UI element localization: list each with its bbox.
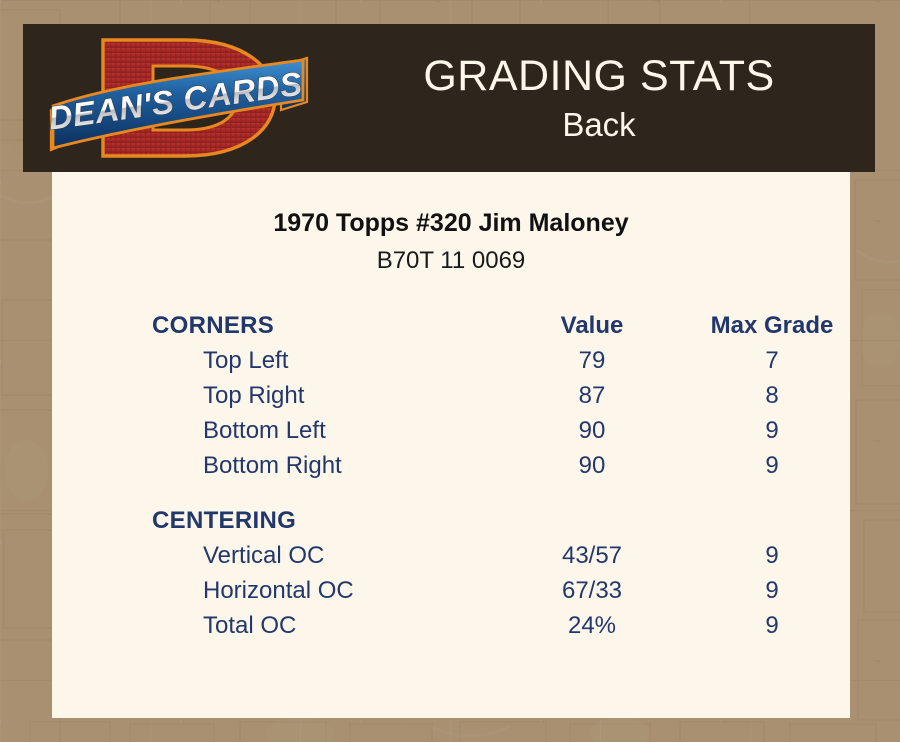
table-row: Horizontal OC 67/33 9 <box>152 573 852 608</box>
row-max-grade: 8 <box>672 378 872 413</box>
section-heading-corners: CORNERS <box>152 308 274 343</box>
row-label: Bottom Right <box>203 448 342 483</box>
row-label: Bottom Left <box>203 413 326 448</box>
header-title-block: GRADING STATS Back <box>323 24 875 172</box>
page-root: DEAN'S CARDS GRADING STATS Back 1970 Top… <box>0 0 900 742</box>
page-subtitle: Back <box>562 105 635 145</box>
row-value: 90 <box>522 448 662 483</box>
row-value: 67/33 <box>522 573 662 608</box>
row-max-grade: 9 <box>672 538 872 573</box>
page-title: GRADING STATS <box>423 51 774 101</box>
content-panel: 1970 Topps #320 Jim Maloney B70T 11 0069… <box>52 172 850 718</box>
section-header-row: CORNERS Value Max Grade <box>152 308 852 343</box>
row-max-grade: 7 <box>672 343 872 378</box>
table-row: Total OC 24% 9 <box>152 608 852 643</box>
row-label: Vertical OC <box>203 538 324 573</box>
table-row: Top Right 87 8 <box>152 378 852 413</box>
header-bar: DEAN'S CARDS GRADING STATS Back <box>23 24 875 172</box>
table-row: Bottom Right 90 9 <box>152 448 852 483</box>
row-max-grade: 9 <box>672 573 872 608</box>
column-header-max-grade: Max Grade <box>672 308 872 343</box>
card-serial-number: B70T 11 0069 <box>52 247 850 275</box>
row-value: 79 <box>522 343 662 378</box>
section-header-row: CENTERING <box>152 503 852 538</box>
card-title: 1970 Topps #320 Jim Maloney <box>52 209 850 238</box>
row-value: 24% <box>522 608 662 643</box>
section-spacer <box>152 483 852 503</box>
row-label: Top Left <box>203 343 288 378</box>
row-label: Top Right <box>203 378 304 413</box>
row-label: Total OC <box>203 608 296 643</box>
row-label: Horizontal OC <box>203 573 354 608</box>
table-row: Vertical OC 43/57 9 <box>152 538 852 573</box>
column-header-value: Value <box>522 308 662 343</box>
table-row: Top Left 79 7 <box>152 343 852 378</box>
table-row: Bottom Left 90 9 <box>152 413 852 448</box>
deans-cards-logo[interactable]: DEAN'S CARDS <box>45 28 315 168</box>
row-value: 43/57 <box>522 538 662 573</box>
logo-artwork: DEAN'S CARDS <box>45 28 315 168</box>
row-max-grade: 9 <box>672 413 872 448</box>
row-value: 87 <box>522 378 662 413</box>
row-max-grade: 9 <box>672 448 872 483</box>
section-heading-centering: CENTERING <box>152 503 296 538</box>
row-max-grade: 9 <box>672 608 872 643</box>
grading-stats-table: CORNERS Value Max Grade Top Left 79 7 To… <box>152 308 852 643</box>
row-value: 90 <box>522 413 662 448</box>
